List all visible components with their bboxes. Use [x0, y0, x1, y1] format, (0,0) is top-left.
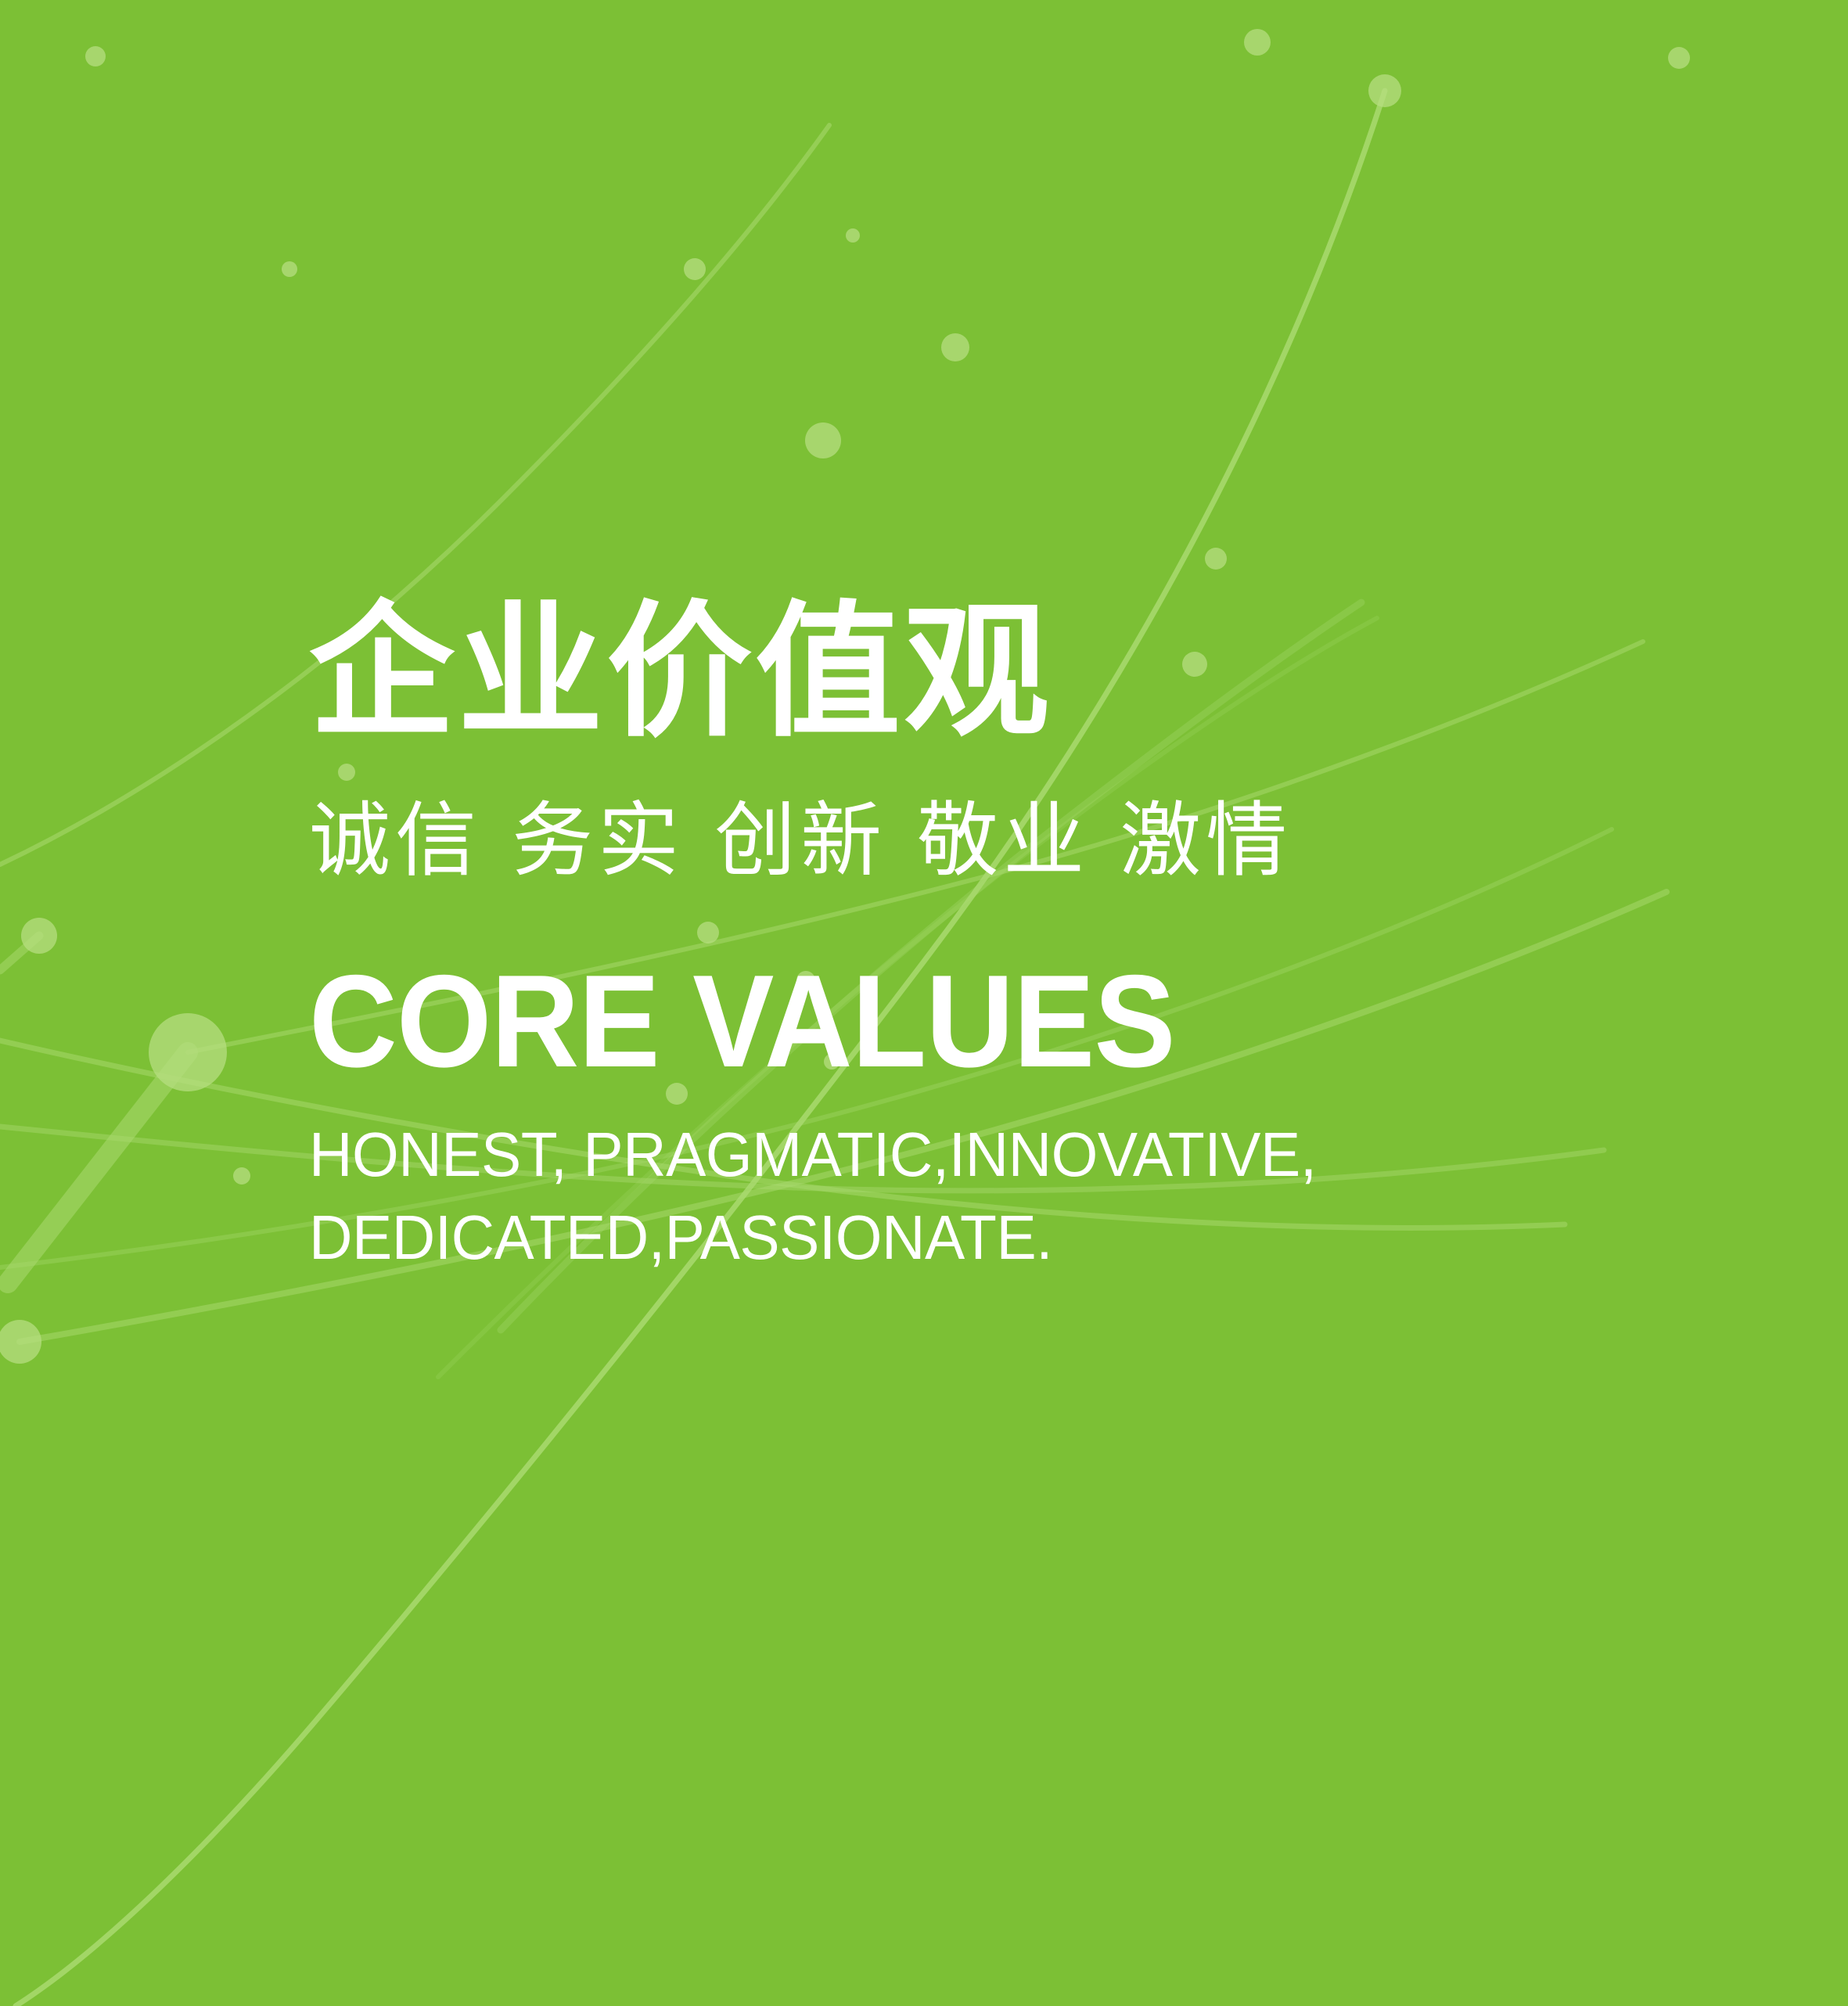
- decor-curve-node-stem: [8, 1052, 188, 1283]
- decor-dot-node-left-large: [149, 1013, 227, 1091]
- decor-dot: [282, 261, 297, 277]
- decor-dot-node-bottom-left: [0, 1320, 41, 1364]
- poster-body-line-1: HONEST, PRAGMATIC,INNOVATIVE,: [309, 1113, 1586, 1196]
- poster-subtitle-chinese: 诚信 务实 创新 敬业 激情: [309, 794, 1717, 888]
- decor-dot: [846, 228, 860, 243]
- decor-dot: [233, 1167, 250, 1185]
- decor-dot: [1205, 548, 1227, 570]
- poster-body-line-2: DEDICATED,PASSIONATE.: [309, 1196, 1586, 1279]
- decor-curve-short-stub: [0, 936, 39, 970]
- poster-title-chinese: 企业价值观: [309, 595, 1717, 749]
- decor-dot: [85, 46, 106, 67]
- decor-dot: [1668, 47, 1690, 69]
- decor-dot: [1244, 29, 1271, 56]
- decor-dot: [684, 258, 706, 280]
- decor-dot: [805, 422, 841, 458]
- decor-dot-node-left-small: [21, 918, 57, 954]
- poster-heading-english: CORE VALUES: [309, 955, 1619, 1087]
- decor-dot: [941, 333, 969, 361]
- decor-dot-node-top: [1368, 74, 1401, 107]
- poster-text-block: 企业价值观 诚信 务实 创新 敬业 激情 CORE VALUES HONEST,…: [309, 595, 1717, 1280]
- poster-body-english: HONEST, PRAGMATIC,INNOVATIVE, DEDICATED,…: [309, 1113, 1586, 1280]
- core-values-poster: 企业价值观 诚信 务实 创新 敬业 激情 CORE VALUES HONEST,…: [0, 0, 1848, 2006]
